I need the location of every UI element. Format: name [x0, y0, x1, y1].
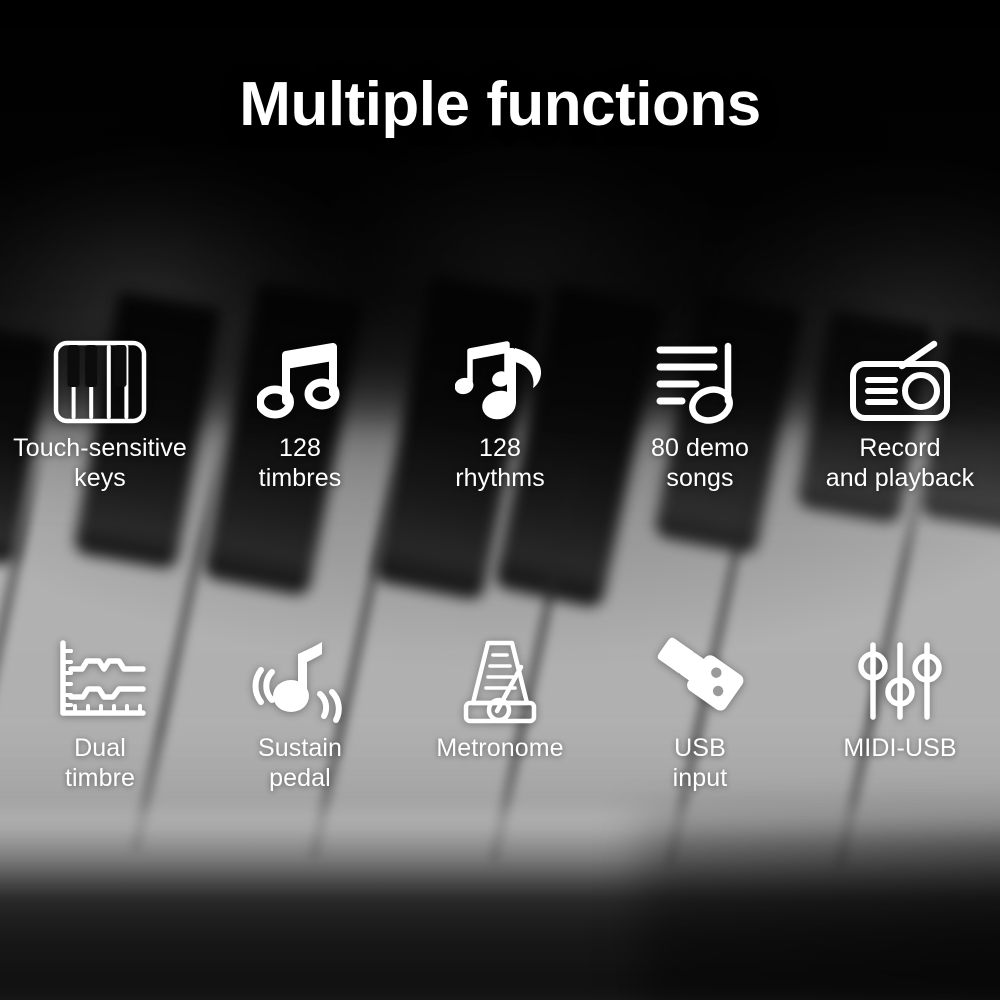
feature-label: 80 demo songs: [651, 434, 749, 493]
feature-rhythms[interactable]: 128 rhythms: [400, 336, 600, 493]
playlist-note-icon: [654, 336, 746, 428]
feature-label: USB input: [673, 734, 728, 793]
feature-label: 128 rhythms: [455, 434, 545, 493]
faders-icon: [854, 636, 946, 728]
radio-icon: [848, 336, 952, 428]
feature-label: Sustain pedal: [258, 734, 342, 793]
feature-midi-usb[interactable]: MIDI-USB: [800, 636, 1000, 793]
feature-demo-songs[interactable]: 80 demo songs: [600, 336, 800, 493]
feature-infographic: Multiple functions: [0, 0, 1000, 1000]
page-title: Multiple functions: [0, 74, 1000, 136]
feature-row-2: Dual timbre: [0, 636, 1000, 793]
feature-dual-timbre[interactable]: Dual timbre: [0, 636, 200, 793]
metronome-icon: [457, 636, 543, 728]
feature-metronome[interactable]: Metronome: [400, 636, 600, 793]
waveform-chart-icon: [51, 636, 149, 728]
music-notes-icon: [455, 336, 545, 428]
vibrating-note-icon: [250, 636, 350, 728]
feature-label: Metronome: [436, 734, 563, 764]
piano-keys-icon: [52, 336, 148, 428]
feature-sustain-pedal[interactable]: Sustain pedal: [200, 636, 400, 793]
feature-timbres[interactable]: 128 timbres: [200, 336, 400, 493]
feature-record-playback[interactable]: Record and playback: [800, 336, 1000, 493]
feature-touch-sensitive-keys[interactable]: Touch-sensitive keys: [0, 336, 200, 493]
feature-row-1: Touch-sensitive keys 128 timbres: [0, 336, 1000, 493]
usb-plug-icon: [650, 636, 750, 728]
feature-label: 128 timbres: [259, 434, 342, 493]
feature-label: Touch-sensitive keys: [13, 434, 187, 493]
feature-label: Dual timbre: [65, 734, 135, 793]
feature-label: Record and playback: [826, 434, 975, 493]
beamed-notes-icon: [257, 336, 343, 428]
feature-usb-input[interactable]: USB input: [600, 636, 800, 793]
feature-label: MIDI-USB: [843, 734, 956, 764]
